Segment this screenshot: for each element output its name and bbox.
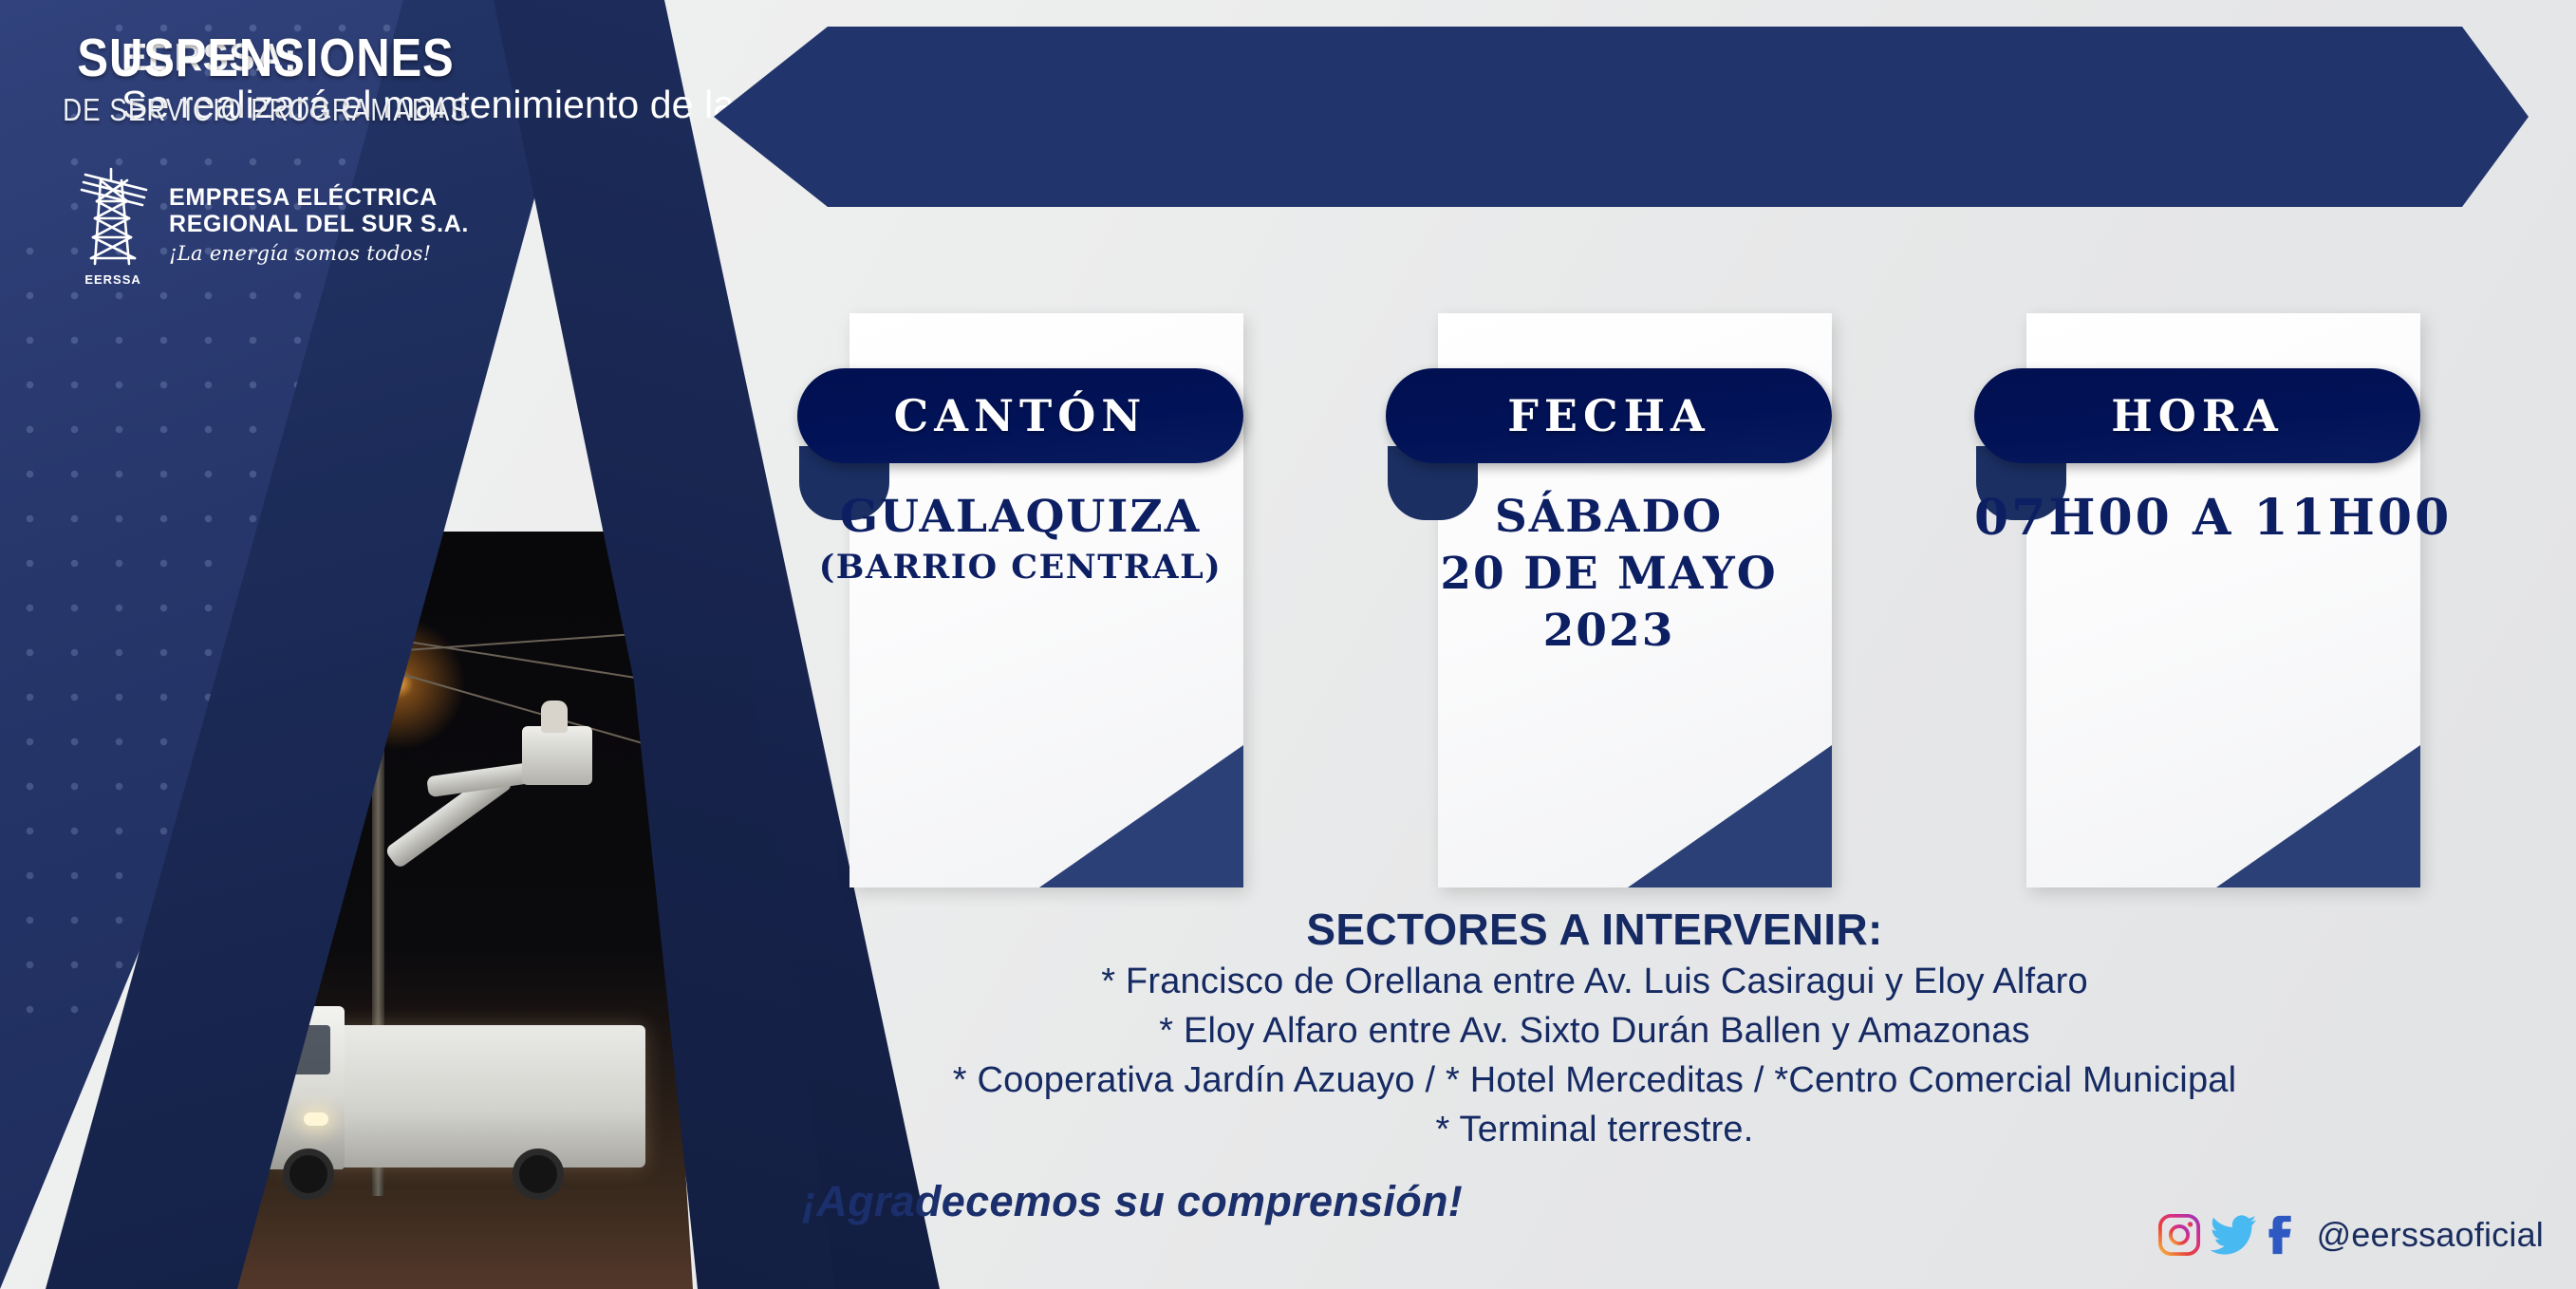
card-body: SÁBADO 20 DE MAYO 2023 — [1386, 489, 1832, 660]
card-hora: HORA 07H00 A 11H00 — [1974, 285, 2420, 892]
twitter-icon[interactable] — [2211, 1213, 2258, 1257]
sector-line: * Terminal terrestre. — [664, 1105, 2525, 1154]
company-logo: EERSSA EMPRESA ELÉCTRICA REGIONAL DEL SU… — [0, 163, 532, 287]
company-slogan: ¡La energía somos todos! — [169, 240, 469, 267]
card-corner-fold — [1628, 745, 1832, 887]
card-value-main: 07H00 A 11H00 — [1974, 489, 2420, 548]
card-value-line2: 20 DE MAYO — [1386, 546, 1832, 603]
page-title: SUSPENSIONES — [37, 28, 495, 87]
truck-wheel-rear — [513, 1149, 564, 1200]
sector-line: * Cooperativa Jardín Azuayo / * Hotel Me… — [664, 1055, 2525, 1105]
tower-logo-group: EERSSA — [72, 163, 154, 287]
lineman-worker — [541, 701, 568, 733]
truck-headlamp-right — [304, 1112, 328, 1126]
instagram-icon[interactable] — [2157, 1213, 2201, 1257]
card-header-pill: CANTÓN — [797, 368, 1243, 463]
page-subtitle: DE SERVICIO PROGRAMADAS — [43, 91, 489, 129]
card-canton: CANTÓN GUALAQUIZA (BARRIO CENTRAL) — [797, 285, 1243, 892]
bucket-basket — [522, 726, 592, 785]
card-fecha: FECHA SÁBADO 20 DE MAYO 2023 — [1386, 285, 1832, 892]
poster-header: SUSPENSIONES DE SERVICIO PROGRAMADAS — [0, 28, 532, 287]
card-value-line1: SÁBADO — [1386, 489, 1832, 546]
social-handle[interactable]: @eerssaoficial — [2317, 1215, 2544, 1255]
card-body: GUALAQUIZA (BARRIO CENTRAL) — [797, 489, 1243, 589]
card-header-label: HORA — [2111, 390, 2283, 441]
card-value-sub: (BARRIO CENTRAL) — [797, 546, 1243, 589]
card-header-wrap: CANTÓN — [797, 368, 1243, 501]
sectors-title: SECTORES A INTERVENIR: — [664, 902, 2525, 957]
truck-wheel-front — [283, 1149, 334, 1200]
card-value-line3: 2023 — [1386, 603, 1832, 660]
sector-line: * Francisco de Orellana entre Av. Luis C… — [664, 957, 2525, 1006]
card-header-pill: HORA — [1974, 368, 2420, 463]
card-header-label: FECHA — [1507, 390, 1709, 441]
transmission-tower-icon — [72, 163, 154, 270]
card-header-wrap: FECHA — [1386, 368, 1832, 501]
info-cards: CANTÓN GUALAQUIZA (BARRIO CENTRAL) FECHA… — [740, 285, 2449, 892]
power-wire-icon — [378, 666, 643, 744]
poster-root: SUSPENSIONES DE SERVICIO PROGRAMADAS — [0, 0, 2576, 1289]
facebook-icon[interactable] — [2268, 1213, 2300, 1257]
card-header-wrap: HORA — [1974, 368, 2420, 501]
sector-line: * Eloy Alfaro entre Av. Sixto Durán Ball… — [664, 1006, 2525, 1055]
card-header-label: CANTÓN — [894, 390, 1148, 441]
card-body: 07H00 A 11H00 — [1974, 489, 2420, 548]
company-name-line2: REGIONAL DEL SUR S.A. — [169, 211, 469, 237]
company-name-line1: EMPRESA ELÉCTRICA — [169, 184, 469, 211]
card-corner-fold — [1039, 745, 1243, 887]
social-footer: @eerssaoficial — [2157, 1213, 2544, 1257]
sectors-section: SECTORES A INTERVENIR: * Francisco de Or… — [664, 902, 2525, 1154]
closing-message: ¡Agradecemos su comprensión! — [802, 1177, 1463, 1226]
card-header-pill: FECHA — [1386, 368, 1832, 463]
announcement-banner — [714, 27, 2529, 207]
tower-logo-label: EERSSA — [72, 272, 154, 287]
card-value-main: GUALAQUIZA — [797, 489, 1243, 546]
card-corner-fold — [2216, 745, 2420, 887]
company-logo-text: EMPRESA ELÉCTRICA REGIONAL DEL SUR S.A. … — [169, 184, 469, 267]
